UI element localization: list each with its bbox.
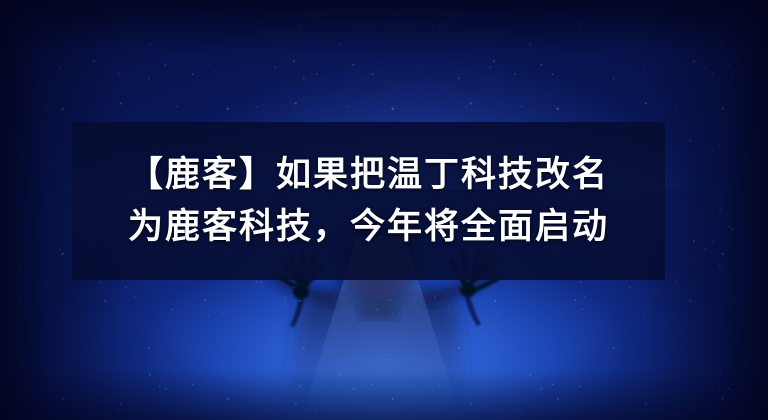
headline-line-1: 【鹿客】如果把温丁科技改名: [128, 152, 609, 198]
banner-image: 【鹿客】如果把温丁科技改名 为鹿客科技，今年将全面启动: [0, 0, 768, 420]
headline-block: 【鹿客】如果把温丁科技改名 为鹿客科技，今年将全面启动: [72, 122, 665, 280]
headline-line-2: 为鹿客科技，今年将全面启动: [128, 204, 609, 250]
